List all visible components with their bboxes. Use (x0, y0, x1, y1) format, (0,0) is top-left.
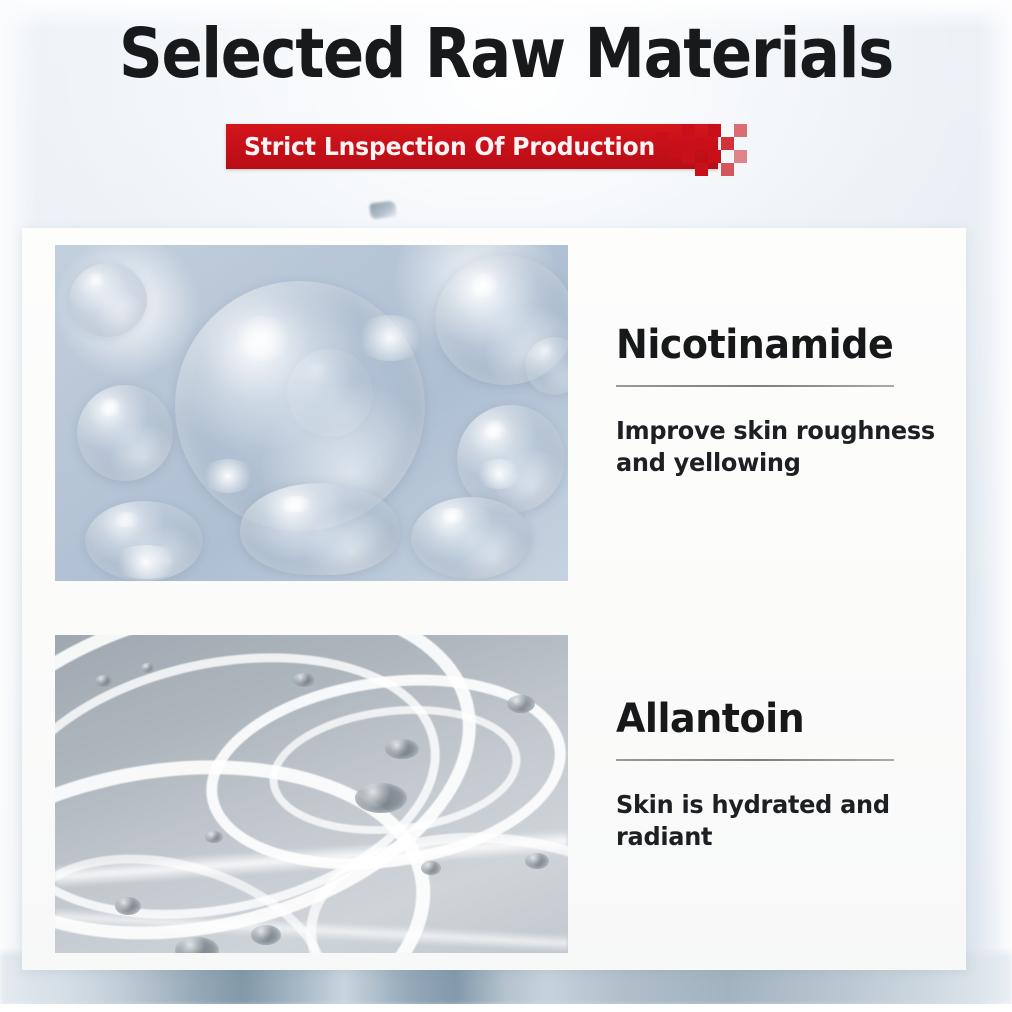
background-blurred-object (369, 200, 397, 219)
gel-bubbles-image (55, 245, 568, 581)
ingredient-text-block: Nicotinamide Improve skin roughness and … (616, 323, 948, 479)
ingredient-row: Allantoin Skin is hydrated and radiant (22, 635, 966, 953)
ingredient-text-block: Allantoin Skin is hydrated and radiant (616, 697, 901, 853)
content-card: Nicotinamide Improve skin roughness and … (22, 228, 966, 970)
divider-rule (616, 759, 894, 761)
ingredient-name: Allantoin (616, 697, 887, 741)
ingredient-name: Nicotinamide (616, 323, 932, 367)
divider-rule (616, 385, 894, 387)
ingredient-description: Improve skin roughness and yellowing (616, 415, 935, 479)
product-infographic-poster: Selected Raw Materials Strict Lnspection… (0, 0, 1012, 1012)
ingredient-photo (55, 245, 568, 581)
background-right-fade (978, 0, 1012, 1012)
ingredient-photo (55, 635, 568, 953)
banner-label: Strict Lnspection Of Production (244, 124, 655, 169)
checker-pattern-decoration (656, 124, 746, 180)
background-bottom-margin (0, 1004, 1012, 1012)
ingredient-row: Nicotinamide Improve skin roughness and … (22, 245, 966, 581)
gel-swirl-image (55, 635, 568, 953)
page-title: Selected Raw Materials (61, 20, 952, 89)
ingredient-description: Skin is hydrated and radiant (616, 789, 890, 853)
banner: Strict Lnspection Of Production (226, 124, 746, 172)
